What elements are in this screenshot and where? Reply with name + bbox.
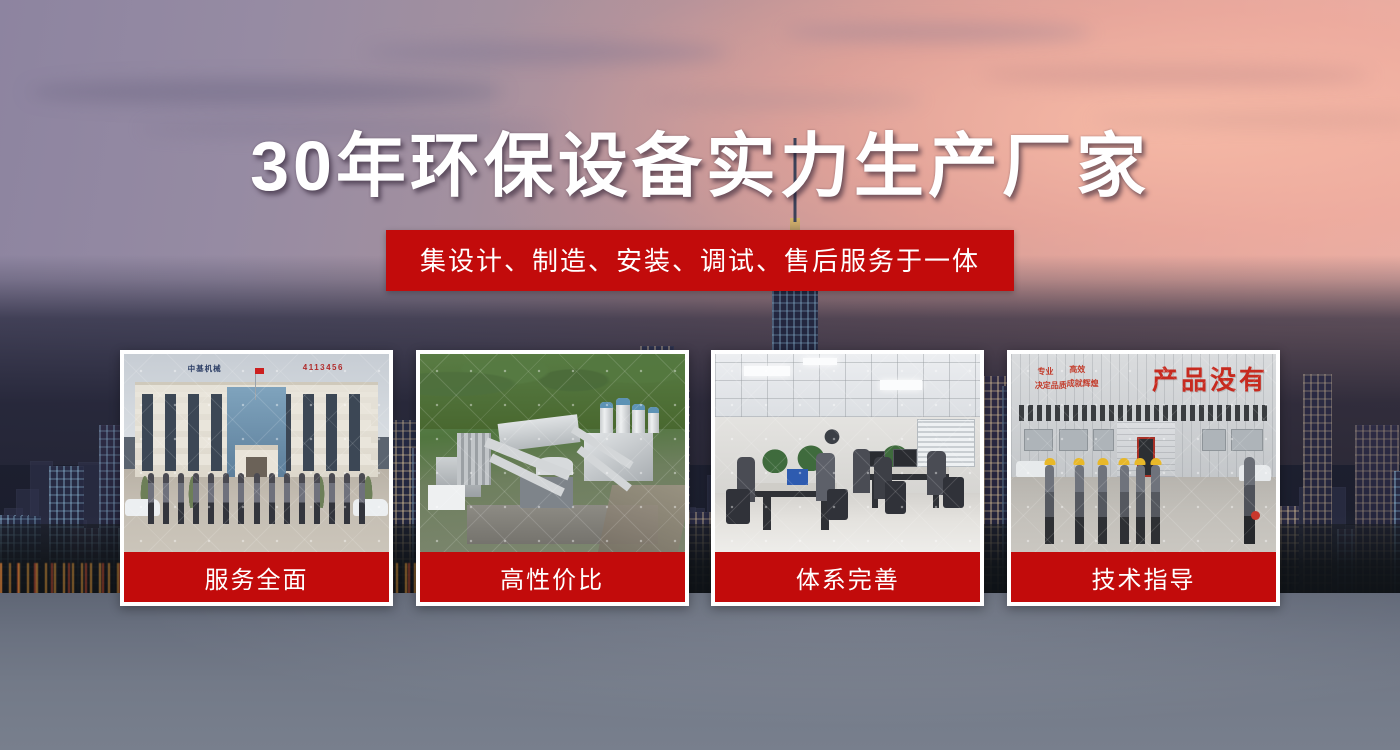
hard-hat-icon	[1135, 458, 1146, 465]
page-title: 30年环保设备实力生产厂家	[0, 130, 1400, 204]
feature-card-label: 技术指导	[1011, 552, 1276, 602]
cloud	[644, 93, 924, 108]
red-helmet-icon	[1251, 511, 1260, 520]
hard-hat-icon	[1044, 458, 1055, 465]
building-phone-number: 4113456	[303, 363, 344, 372]
feature-card-label: 服务全面	[124, 552, 389, 602]
hard-hat-icon	[1150, 458, 1161, 465]
factory-wall-small-text: 高效	[1069, 366, 1085, 375]
feature-card-label: 体系完善	[715, 552, 980, 602]
cloud	[28, 79, 504, 105]
company-building-photo: 中基机械 4113456	[124, 354, 389, 552]
factory-workers-photo: 产品没有 专业 高效 成就辉煌 决定品质	[1011, 354, 1276, 552]
hero-banner: 30年环保设备实力生产厂家 集设计、制造、安装、调试、售后服务于一体 中基机械 …	[0, 0, 1400, 750]
factory-wall-small-text: 成就辉煌	[1067, 380, 1099, 389]
factory-wall-slogan: 产品没有	[1152, 360, 1268, 397]
industrial-plant-aerial-photo	[420, 354, 685, 552]
factory-wall-small-text: 专业	[1037, 368, 1053, 377]
cloud	[364, 42, 728, 63]
feature-card[interactable]: 中基机械 4113456 服务全面	[120, 350, 393, 606]
water-sheen	[0, 593, 1400, 750]
feature-card[interactable]: 产品没有 专业 高效 成就辉煌 决定品质	[1007, 350, 1280, 606]
flag-icon	[255, 368, 264, 374]
feature-card[interactable]: 体系完善	[711, 350, 984, 606]
office-interior-photo	[715, 354, 980, 552]
feature-card-label: 高性价比	[420, 552, 685, 602]
subtitle-banner: 集设计、制造、安装、调试、售后服务于一体	[386, 230, 1014, 291]
feature-card-list: 中基机械 4113456 服务全面	[120, 350, 1280, 606]
hard-hat-icon	[1119, 458, 1130, 465]
cloud	[784, 23, 1092, 42]
factory-wall-small-text: 决定品质	[1035, 382, 1067, 391]
supervisor-figure	[1244, 457, 1255, 544]
hard-hat-icon	[1097, 458, 1108, 465]
feature-card[interactable]: 高性价比	[416, 350, 689, 606]
hard-hat-icon	[1074, 458, 1085, 465]
building-signage: 中基机械	[188, 363, 222, 374]
